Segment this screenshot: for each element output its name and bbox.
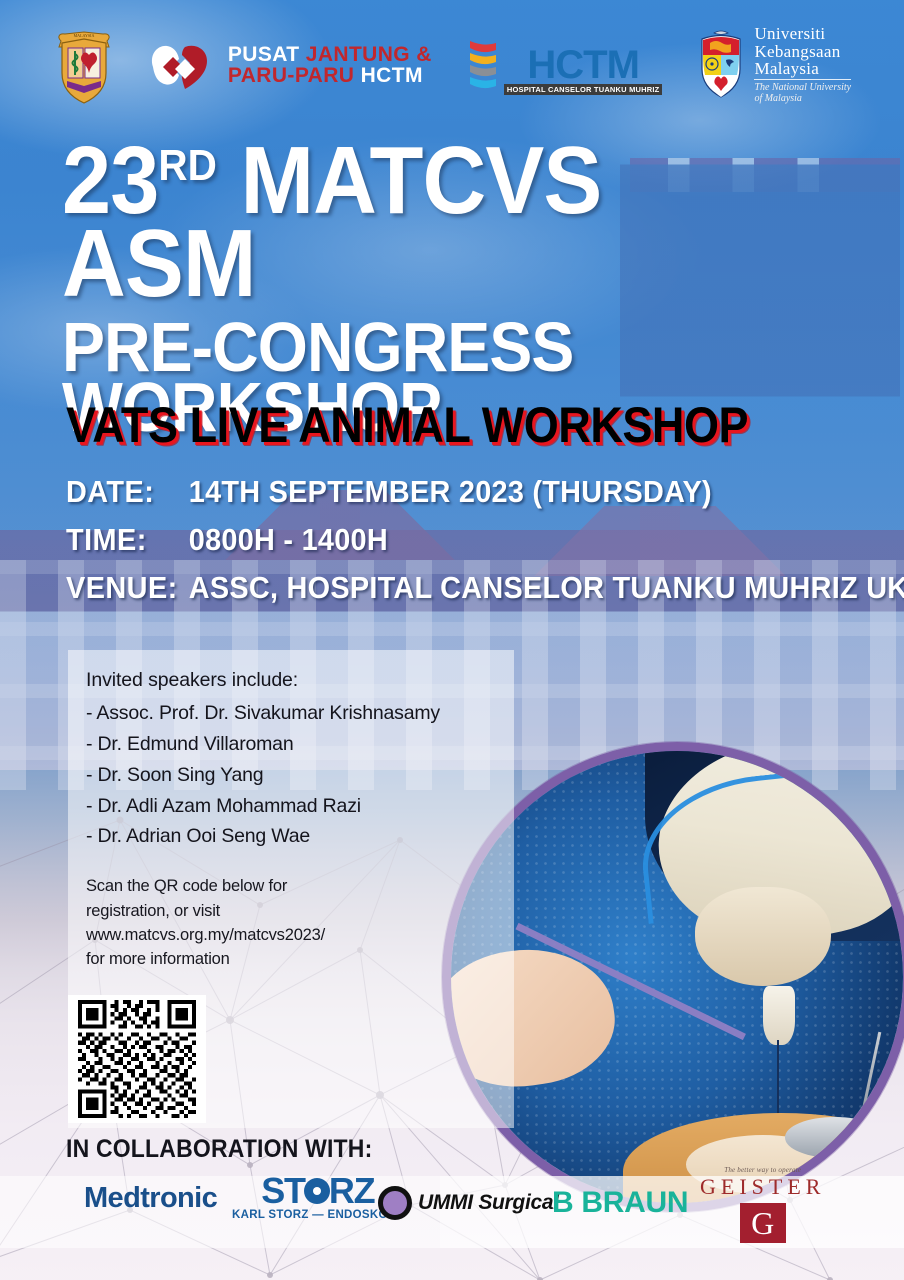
ukm-line2: Kebangsaan (754, 43, 851, 60)
workshop-subtitle: VATS LIVE ANIMAL WORKSHOP (66, 396, 748, 454)
detail-row-time: TIME: 0800H - 1400H (66, 522, 904, 558)
list-item: - Dr. Edmund Villaroman (86, 729, 496, 760)
geister-g-letter: G (751, 1207, 774, 1239)
storz-wordmark: STRZ (261, 1174, 374, 1208)
ukm-shield-icon (696, 29, 746, 101)
svg-text:MALAYSIA: MALAYSIA (74, 33, 95, 38)
storz-o-icon (304, 1178, 330, 1204)
registration-note: Scan the QR code below for registration,… (86, 874, 496, 972)
hctm-acronym: HCTM (527, 46, 639, 84)
collaboration-title: IN COLLABORATION WITH: (66, 1135, 372, 1164)
pjp-line2-red: PARU-PARU (228, 64, 361, 87)
pusat-jantung-paru-paru-hctm-logo: PUSAT JANTUNG & PARU-PARU HCTM (149, 37, 432, 93)
registration-line-2: registration, or visit (86, 899, 496, 923)
event-title-line-1: 23RD MATCVS ASM (62, 140, 800, 305)
hctm-subtitle: HOSPITAL CANSELOR TUANKU MUHRIZ (504, 84, 663, 95)
ukm-tagline-1: The National University (754, 82, 851, 93)
poster-canvas: MALAYSIA PUSAT JANTUNG & PARU-PARU HCTM (0, 0, 904, 1280)
qr-code-graphic (73, 1000, 201, 1118)
ukm-tagline-2: of Malaysia (754, 93, 851, 104)
registration-line-1: Scan the QR code below for (86, 874, 496, 898)
list-item: - Dr. Adli Azam Mohammad Razi (86, 791, 496, 822)
b-braun-logo: B BRAUN (552, 1186, 688, 1220)
geister-tagline: The better way to operate (724, 1166, 801, 1174)
geister-wordmark: GEISTER (700, 1174, 825, 1200)
event-ordinal-suffix: RD (158, 141, 216, 190)
matcvs-crest-logo: MALAYSIA (53, 23, 115, 107)
heart-lung-mark-icon (149, 37, 219, 93)
photo-instrument-tip (763, 986, 795, 1045)
headline-block: 23RD MATCVS ASM PRE-CONGRESS WORKSHOP (62, 140, 864, 437)
detail-value-time: 0800H - 1400H (189, 522, 388, 558)
detail-row-date: DATE: 14TH SEPTEMBER 2023 (THURSDAY) (66, 474, 904, 510)
list-item: - Assoc. Prof. Dr. Sivakumar Krishnasamy (86, 698, 496, 729)
sponsor-logo-strip: Medtronic STRZ KARL STORZ — ENDOSKOPE UM… (0, 1182, 904, 1246)
detail-row-venue: VENUE: ASSC, HOSPITAL CANSELOR TUANKU MU… (66, 570, 904, 606)
list-item: - Dr. Soon Sing Yang (86, 760, 496, 791)
ukm-line3: Malaysia (754, 60, 851, 77)
speakers-heading: Invited speakers include: (86, 666, 496, 695)
detail-value-date: 14TH SEPTEMBER 2023 (THURSDAY) (189, 474, 712, 510)
photo-retractor-ring (785, 1117, 884, 1158)
geister-logo: The better way to operate GEISTER G (700, 1166, 825, 1243)
ummi-wordmark: UMMI Surgical (418, 1191, 559, 1215)
medtronic-logo: Medtronic (84, 1182, 217, 1215)
ummi-surgical-logo: UMMI Surgical (378, 1186, 559, 1220)
hctm-ribbon-icon (466, 35, 500, 95)
detail-label-venue: VENUE: (66, 570, 189, 606)
registration-url[interactable]: www.matcvs.org.my/matcvs2023/ (86, 923, 496, 947)
registration-line-4: for more information (86, 947, 496, 971)
pjp-line1-white: PUSAT (228, 43, 306, 66)
geister-g-mark-icon: G (740, 1203, 786, 1243)
organisation-logo-bar: MALAYSIA PUSAT JANTUNG & PARU-PARU HCTM (0, 22, 904, 108)
ukm-line1: Universiti (754, 25, 851, 42)
photo-fingers (695, 887, 831, 986)
hctm-logo: HCTM HOSPITAL CANSELOR TUANKU MUHRIZ (466, 35, 663, 95)
ukm-logo: Universiti Kebangsaan Malaysia The Natio… (696, 25, 851, 104)
ukm-divider (754, 79, 851, 80)
detail-value-venue: ASSC, HOSPITAL CANSELOR TUANKU MUHRIZ UK… (189, 570, 904, 606)
ummi-ring-icon (378, 1186, 412, 1220)
registration-qr-code[interactable] (68, 995, 206, 1123)
event-details-list: DATE: 14TH SEPTEMBER 2023 (THURSDAY) TIM… (66, 474, 904, 618)
pjp-line1-red: JANTUNG & (306, 43, 432, 66)
speakers-list: - Assoc. Prof. Dr. Sivakumar Krishnasamy… (86, 698, 496, 852)
detail-label-date: DATE: (66, 474, 189, 510)
detail-label-time: TIME: (66, 522, 189, 558)
list-item: - Dr. Adrian Ooi Seng Wae (86, 821, 496, 852)
pjp-line2-white: HCTM (361, 64, 423, 87)
